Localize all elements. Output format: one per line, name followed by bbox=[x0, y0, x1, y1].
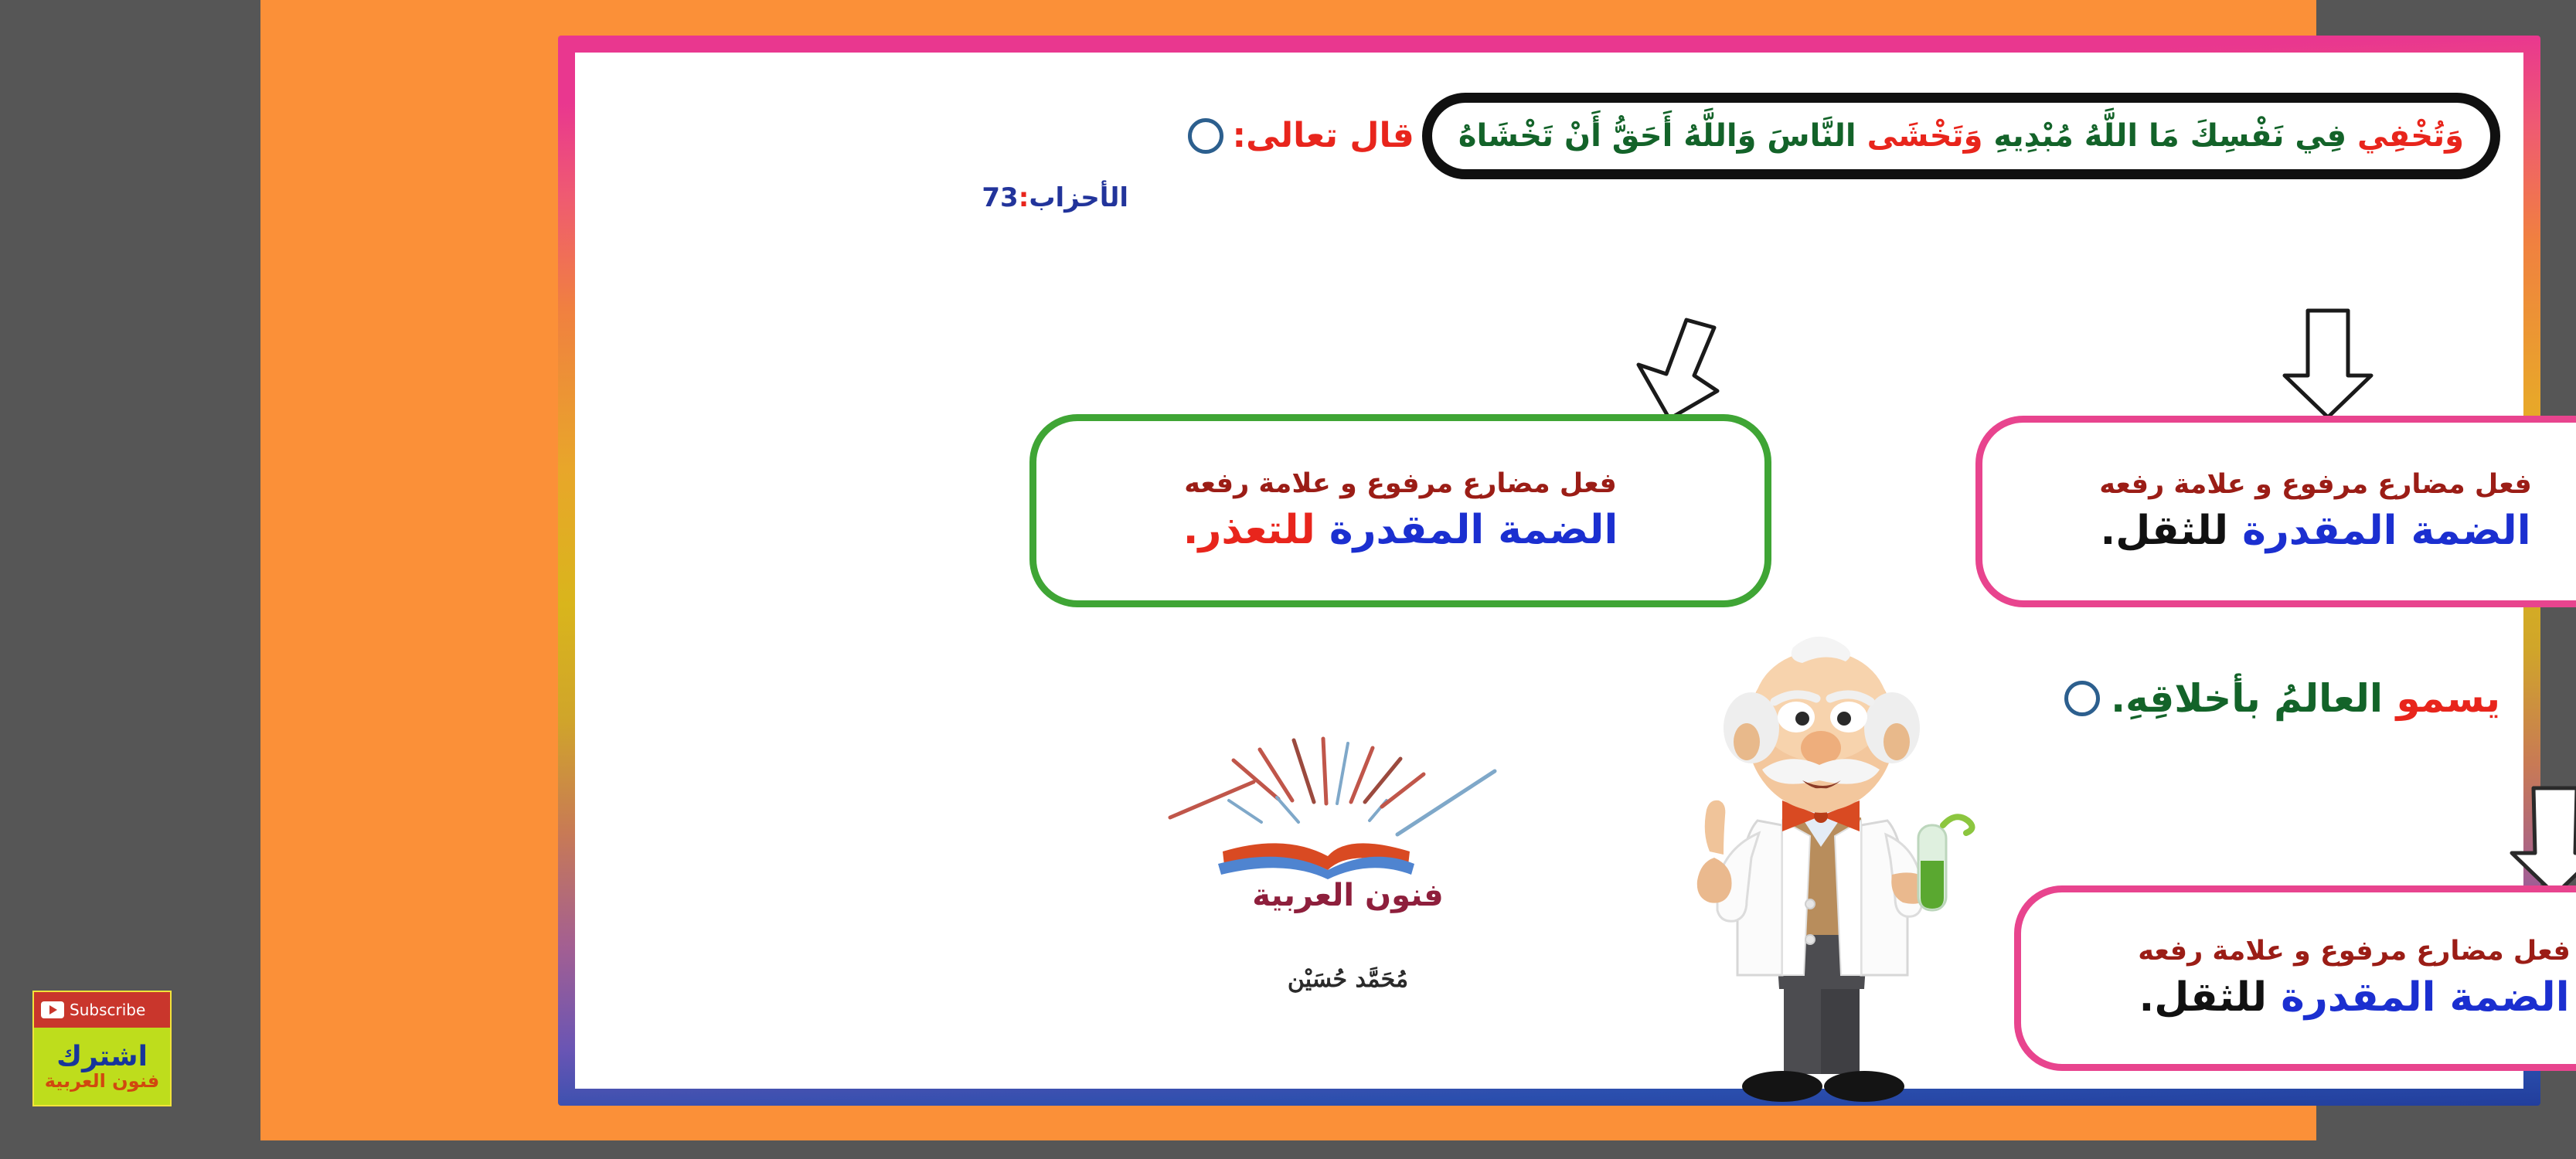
verse-label: قال تعالى: bbox=[1233, 119, 1414, 153]
verse-part-3: النَّاسَ وَاللَّهُ أَحَقُّ أَنْ تَخْشَاه… bbox=[1458, 118, 1867, 154]
verse-part-0: وَتُخْفِي bbox=[2357, 118, 2464, 154]
analysis-box-line2-seg1: للثقل. bbox=[2100, 508, 2228, 554]
slide-outer-frame: قال تعالى: وَتُخْفِي فِي نَفْسِكَ مَا ال… bbox=[260, 0, 2316, 1140]
verse-text: وَتُخْفِي فِي نَفْسِكَ مَا اللَّهُ مُبْد… bbox=[1458, 121, 2464, 151]
analysis-box-line2: الضمة المقدرة للثقل. bbox=[2139, 976, 2569, 1020]
slide-inner-frame: قال تعالى: وَتُخْفِي فِي نَفْسِكَ مَا ال… bbox=[558, 36, 2540, 1106]
sentence2-text: يسمو العالمُ بأخلاقِهِ. bbox=[2111, 678, 2500, 719]
sentence2-row: يسمو العالمُ بأخلاقِهِ. bbox=[2064, 678, 2500, 719]
scientist-character bbox=[1666, 626, 1975, 1120]
subscribe-body[interactable]: اشترك فنون العربية bbox=[34, 1028, 170, 1105]
logo-author: مُحَمَّد حُسَيْن bbox=[1162, 966, 1533, 993]
analysis-box-line2: الضمة المقدرة للثقل. bbox=[2100, 509, 2530, 553]
analysis-box-line2-seg0: الضمة المقدرة bbox=[2228, 508, 2531, 554]
open-book-sunburst-icon bbox=[1162, 726, 1533, 881]
verse-row: قال تعالى: وَتُخْفِي فِي نَفْسِكَ مَا ال… bbox=[1188, 93, 2500, 179]
subscribe-arabic-label: اشترك bbox=[56, 1043, 148, 1071]
subscribe-bar[interactable]: Subscribe bbox=[34, 992, 170, 1028]
arrow-down-icon bbox=[2501, 785, 2576, 901]
analysis-box-green-taaththur: فعل مضارع مرفوع و علامة رفعه الضمة المقد… bbox=[1029, 414, 1771, 607]
analysis-box-line1: فعل مضارع مرفوع و علامة رفعه bbox=[1184, 469, 1617, 499]
subscribe-brand-label: فنون العربية bbox=[45, 1072, 159, 1090]
arrow-down-icon bbox=[2274, 308, 2382, 423]
sentence2-part-1: العالمُ بأخلاقِهِ. bbox=[2111, 676, 2396, 721]
circle-outline-icon bbox=[1188, 118, 1223, 154]
verse-reference-separator: : bbox=[1019, 182, 1029, 213]
arrow-down-icon bbox=[1620, 317, 1744, 425]
channel-logo: فنون العربية مُحَمَّد حُسَيْن bbox=[1162, 726, 1533, 1012]
verse-capsule: وَتُخْفِي فِي نَفْسِكَ مَا اللَّهُ مُبْد… bbox=[1422, 93, 2500, 179]
verse-reference: الأحزاب:37 bbox=[982, 182, 1128, 213]
subscribe-english-label: Subscribe bbox=[70, 1001, 145, 1019]
slide-canvas: قال تعالى: وَتُخْفِي فِي نَفْسِكَ مَا ال… bbox=[575, 53, 2523, 1089]
analysis-box-line1: فعل مضارع مرفوع و علامة رفعه bbox=[2099, 470, 2532, 500]
verse-reference-ayah: 37 bbox=[982, 182, 1018, 213]
analysis-box-pink-thiqal-bottom: فعل مضارع مرفوع و علامة رفعه الضمة المقد… bbox=[2014, 885, 2576, 1071]
verse-part-2: وَتَخْشَى bbox=[1867, 118, 1983, 154]
circle-outline-icon bbox=[2064, 681, 2100, 716]
analysis-box-line2-seg1: للثقل. bbox=[2139, 974, 2267, 1021]
subscribe-badge[interactable]: Subscribe اشترك فنون العربية bbox=[32, 991, 172, 1106]
analysis-box-line1: فعل مضارع مرفوع و علامة رفعه bbox=[2138, 936, 2571, 967]
analysis-box-line2-seg1: للتعذر. bbox=[1183, 507, 1315, 553]
logo-title: فنون العربية bbox=[1162, 878, 1533, 913]
verse-reference-surah: الأحزاب bbox=[1029, 182, 1128, 213]
youtube-play-icon bbox=[41, 1001, 64, 1018]
analysis-box-line2-seg0: الضمة المقدرة bbox=[1315, 507, 1618, 553]
analysis-box-line2-seg0: الضمة المقدرة bbox=[2267, 974, 2570, 1021]
analysis-box-pink-thiqal-top: فعل مضارع مرفوع و علامة رفعه الضمة المقد… bbox=[1975, 416, 2576, 607]
sentence2-part-0: يسمو bbox=[2396, 676, 2500, 721]
analysis-box-line2: الضمة المقدرة للتعذر. bbox=[1183, 508, 1618, 552]
verse-part-1: فِي نَفْسِكَ مَا اللَّهُ مُبْدِيهِ bbox=[1982, 118, 2357, 154]
